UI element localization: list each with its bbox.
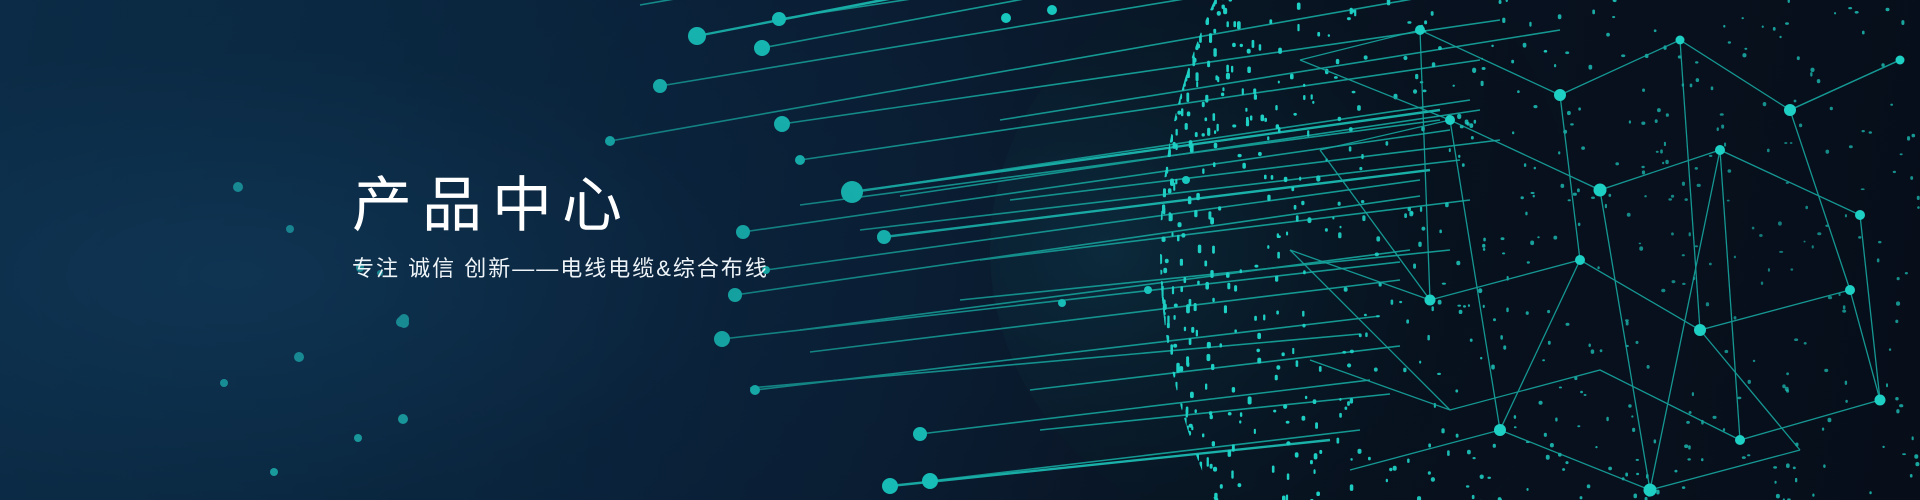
network-globe-artwork xyxy=(0,0,1920,500)
page-title: 产品中心 xyxy=(352,176,769,236)
banner-text-block: 产品中心 专注 诚信 创新——电线电缆&综合布线 xyxy=(352,176,769,280)
product-center-banner: 产品中心 专注 诚信 创新——电线电缆&综合布线 xyxy=(0,0,1920,500)
page-subtitle: 专注 诚信 创新——电线电缆&综合布线 xyxy=(352,258,769,280)
